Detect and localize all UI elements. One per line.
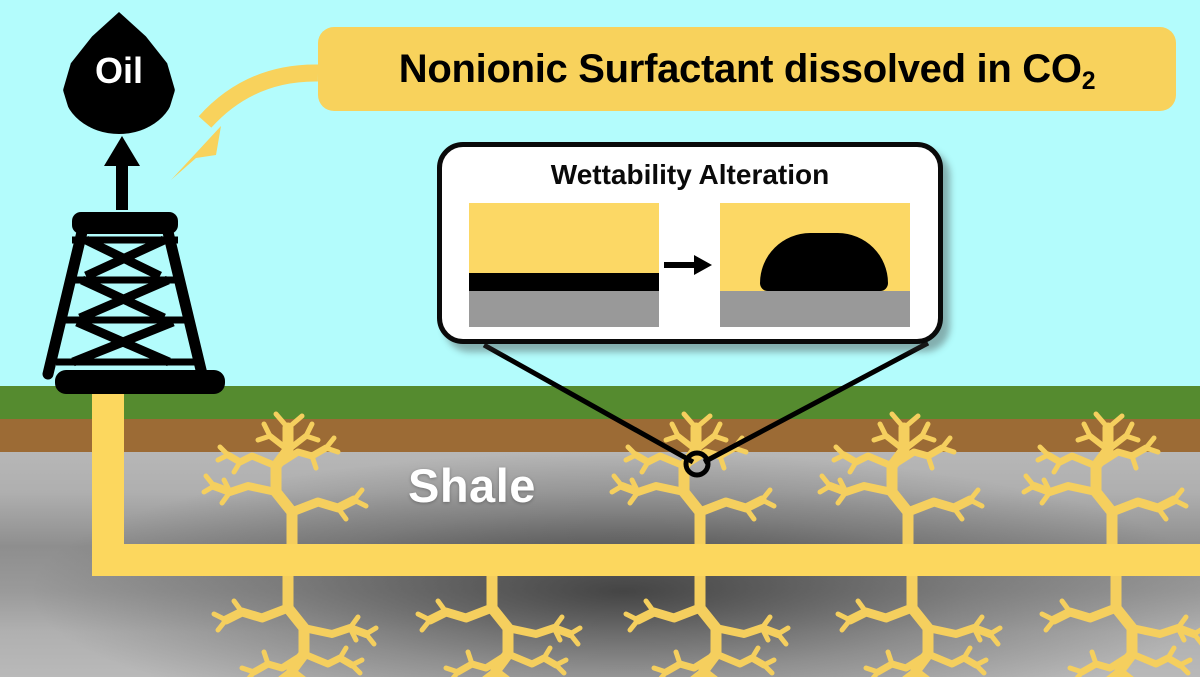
fracture-network-lower (214, 572, 1200, 677)
banner-text-main: Nonionic Surfactant dissolved in CO (399, 47, 1082, 91)
oil-drop-label: Oil (63, 50, 175, 92)
callout-leader-lines (484, 343, 928, 475)
panel-before-oil-film (469, 273, 659, 291)
oil-derrick (48, 212, 225, 394)
oil-drop-icon: Oil (63, 12, 175, 134)
panel-after-alteration (720, 203, 910, 327)
panel-before-alteration (469, 203, 659, 327)
figure-canvas: Shale Oil Nonionic Surfactant dissolved … (0, 0, 1200, 677)
wettability-inset-card: Wettability Alteration (437, 142, 943, 344)
fracture-network-upper (204, 414, 1186, 548)
inset-title: Wettability Alteration (442, 159, 938, 191)
transition-arrow-icon (664, 251, 714, 279)
banner-text: Nonionic Surfactant dissolved in CO2 (399, 47, 1095, 92)
surfactant-banner: Nonionic Surfactant dissolved in CO2 (318, 27, 1176, 111)
inset-panels (442, 203, 938, 331)
panel-after-rock (720, 291, 910, 327)
shale-label: Shale (408, 458, 536, 513)
oil-up-arrow-icon (104, 136, 140, 210)
panel-before-rock (469, 291, 659, 327)
surfactant-injection-arrow-icon (171, 73, 318, 180)
banner-text-subscript: 2 (1082, 68, 1096, 95)
